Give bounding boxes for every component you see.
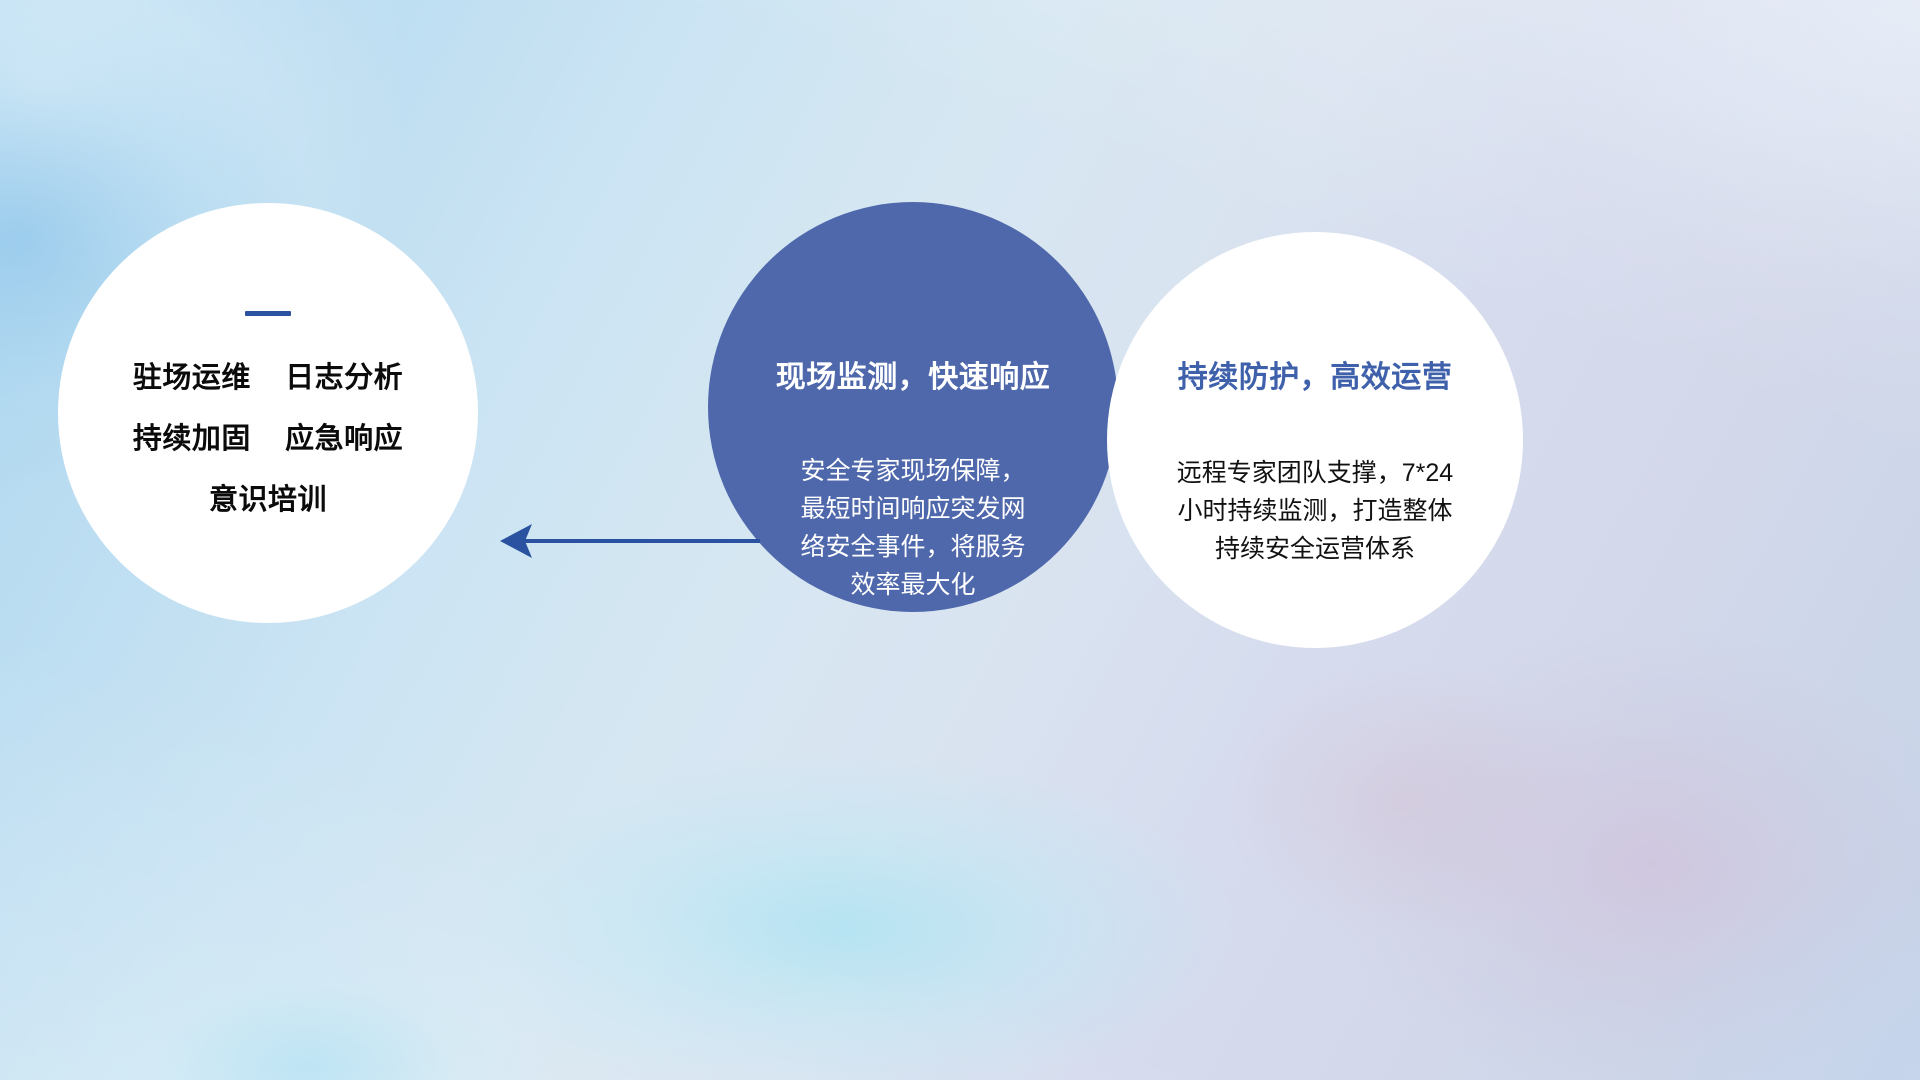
onsite-monitoring-circle[interactable]: 现场监测，快速响应 安全专家现场保障， 最短时间响应突发网 络安全事件，将服务 … bbox=[708, 202, 1118, 612]
capability-line-1: 驻场运维 日志分析 bbox=[86, 364, 450, 393]
continuous-protection-content: 持续防护，高效运营 远程专家团队支撑，7*24 小时持续监测，打造整体 持续安全… bbox=[1107, 352, 1523, 568]
continuous-protection-circle[interactable]: 持续防护，高效运营 远程专家团队支撑，7*24 小时持续监测，打造整体 持续安全… bbox=[1107, 232, 1523, 648]
slide-canvas: 驻场运维 日志分析 持续加固 应急响应 意识培训 现场监测，快速响应 安全专家现… bbox=[0, 0, 1920, 1080]
continuous-protection-body: 远程专家团队支撑，7*24 小时持续监测，打造整体 持续安全运营体系 bbox=[1131, 454, 1499, 568]
capability-tags-circle[interactable]: 驻场运维 日志分析 持续加固 应急响应 意识培训 bbox=[58, 203, 478, 623]
capability-tags-content: 驻场运维 日志分析 持续加固 应急响应 意识培训 bbox=[58, 311, 478, 515]
capability-line-2: 持续加固 应急响应 bbox=[86, 425, 450, 454]
left-pointing-arrow-icon bbox=[470, 505, 760, 575]
onsite-monitoring-body: 安全专家现场保障， 最短时间响应突发网 络安全事件，将服务 效率最大化 bbox=[726, 452, 1100, 604]
onsite-monitoring-title: 现场监测，快速响应 bbox=[726, 352, 1100, 396]
divider-dash-icon bbox=[245, 311, 291, 316]
onsite-monitoring-content: 现场监测，快速响应 安全专家现场保障， 最短时间响应突发网 络安全事件，将服务 … bbox=[708, 352, 1118, 604]
capability-line-3: 意识培训 bbox=[86, 486, 450, 515]
continuous-protection-title: 持续防护，高效运营 bbox=[1131, 352, 1499, 396]
